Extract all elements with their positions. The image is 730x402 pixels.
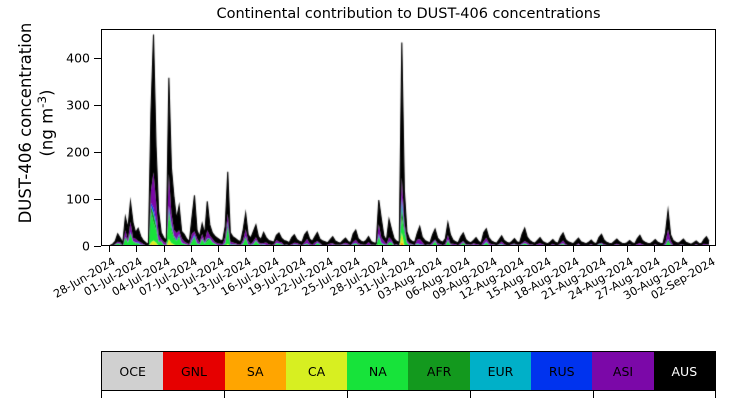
colorbar-tick-marks xyxy=(0,0,730,402)
colorbar-tick xyxy=(715,391,716,398)
colorbar-tick xyxy=(470,391,471,398)
colorbar-tick xyxy=(101,391,102,398)
colorbar-tick xyxy=(593,391,594,398)
colorbar-tick xyxy=(347,391,348,398)
chart-figure: Continental contribution to DUST-406 con… xyxy=(0,0,730,402)
colorbar-tick xyxy=(224,391,225,398)
